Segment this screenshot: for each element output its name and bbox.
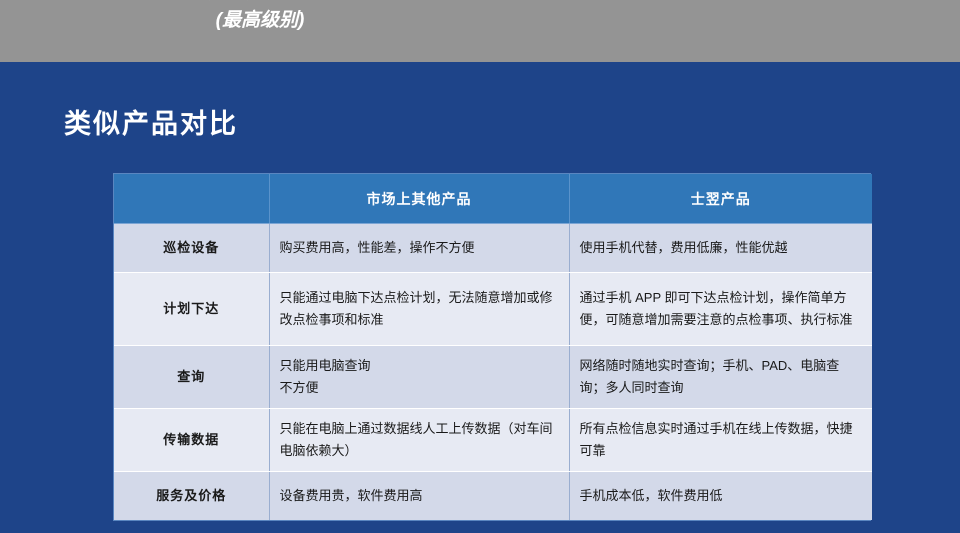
row-other-service-price: 设备费用贵，软件费用高 — [269, 472, 569, 521]
row-label-plan-dispatch: 计划下达 — [114, 273, 269, 346]
slide-body: 类似产品对比 市场上其他产品 士翌产品 巡检设备 购买费用高，性能差，操作不方便 — [0, 62, 960, 533]
page-title: 类似产品对比 — [64, 102, 238, 141]
row-other-data-transfer: 只能在电脑上通过数据线人工上传数据（对车间电脑依赖大） — [269, 409, 569, 472]
header-cell-other-products: 市场上其他产品 — [269, 174, 569, 224]
table-row: 计划下达 只能通过电脑下达点检计划，无法随意增加或修改点检事项和标准 通过手机 … — [114, 273, 872, 346]
row-ours-service-price: 手机成本低，软件费用低 — [569, 472, 872, 521]
table-row: 传输数据 只能在电脑上通过数据线人工上传数据（对车间电脑依赖大） 所有点检信息实… — [114, 409, 872, 472]
row-other-inspection-device: 购买费用高，性能差，操作不方便 — [269, 224, 569, 273]
row-other-query: 只能用电脑查询 不方便 — [269, 346, 569, 409]
header-cell-our-product: 士翌产品 — [569, 174, 872, 224]
row-label-service-price: 服务及价格 — [114, 472, 269, 521]
row-label-query: 查询 — [114, 346, 269, 409]
header-cell-category — [114, 174, 269, 224]
row-label-inspection-device: 巡检设备 — [114, 224, 269, 273]
row-ours-data-transfer: 所有点检信息实时通过手机在线上传数据，快捷可靠 — [569, 409, 872, 472]
table-header-row: 市场上其他产品 士翌产品 — [114, 174, 872, 224]
table-body: 巡检设备 购买费用高，性能差，操作不方便 使用手机代替，费用低廉，性能优越 计划… — [114, 224, 872, 521]
row-ours-query: 网络随时随地实时查询；手机、PAD、电脑查询；多人同时查询 — [569, 346, 872, 409]
banner-line-1: 防护等级达到IP68 — [120, 0, 400, 6]
comparison-table-container: 市场上其他产品 士翌产品 巡检设备 购买费用高，性能差，操作不方便 使用手机代替… — [113, 173, 871, 521]
row-ours-inspection-device: 使用手机代替，费用低廉，性能优越 — [569, 224, 872, 273]
row-other-plan-dispatch: 只能通过电脑下达点检计划，无法随意增加或修改点检事项和标准 — [269, 273, 569, 346]
row-other-query-line1: 只能用电脑查询 — [280, 355, 559, 377]
table-row: 查询 只能用电脑查询 不方便 网络随时随地实时查询；手机、PAD、电脑查询；多人… — [114, 346, 872, 409]
table-row: 巡检设备 购买费用高，性能差，操作不方便 使用手机代替，费用低廉，性能优越 — [114, 224, 872, 273]
comparison-table: 市场上其他产品 士翌产品 巡检设备 购买费用高，性能差，操作不方便 使用手机代替… — [114, 174, 872, 520]
previous-slide-strip: 防护等级达到IP68 (最高级别) — [0, 0, 960, 62]
row-label-data-transfer: 传输数据 — [114, 409, 269, 472]
table-header: 市场上其他产品 士翌产品 — [114, 174, 872, 224]
table-row: 服务及价格 设备费用贵，软件费用高 手机成本低，软件费用低 — [114, 472, 872, 521]
row-ours-plan-dispatch: 通过手机 APP 即可下达点检计划，操作简单方便，可随意增加需要注意的点检事项、… — [569, 273, 872, 346]
banner-line-2: (最高级别) — [120, 8, 400, 34]
row-other-query-line2: 不方便 — [280, 377, 559, 399]
